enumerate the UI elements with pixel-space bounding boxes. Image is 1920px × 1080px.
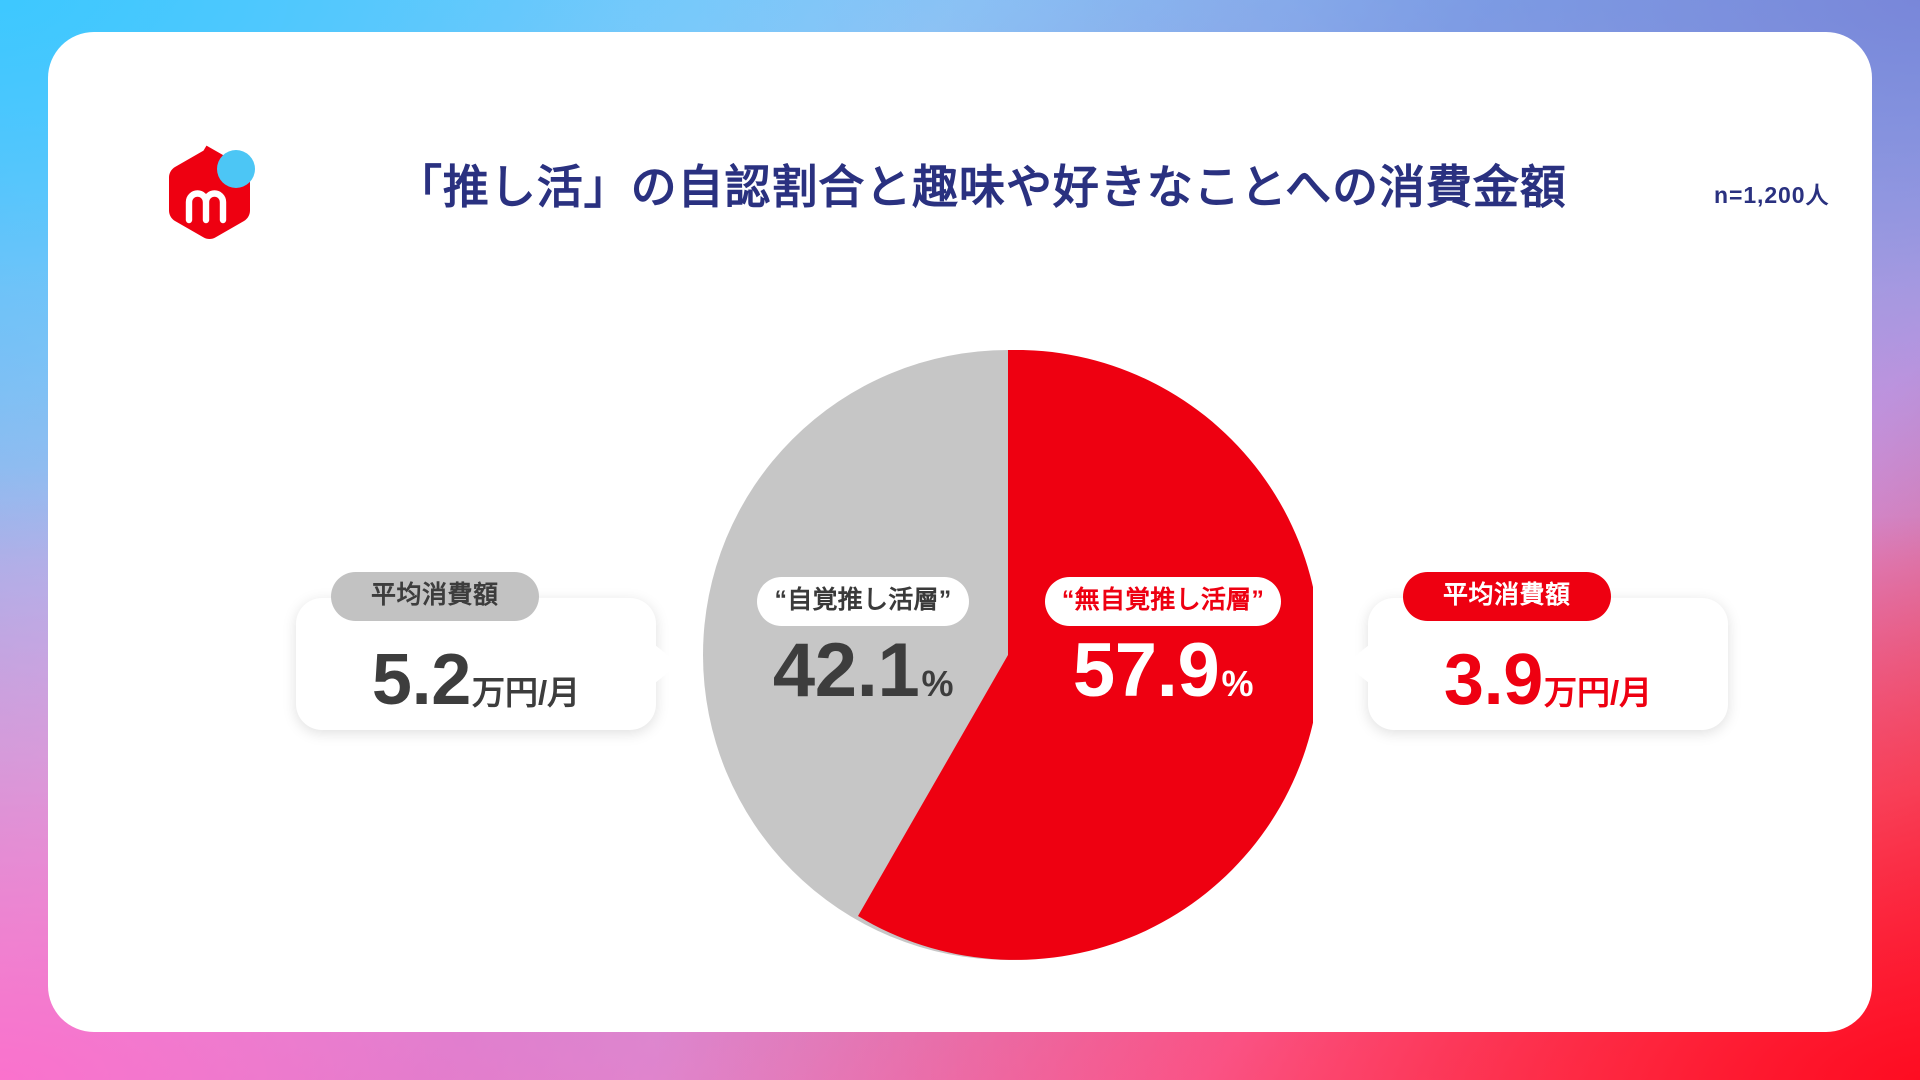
callout-right-amount: 3.9 万円/月 xyxy=(1368,644,1728,716)
content-card: 「推し活」の自認割合と趣味や好きなことへの消費金額 n=1,200人 “自覚推し… xyxy=(48,32,1872,1032)
mercari-logo xyxy=(158,140,262,244)
pie-label-gray: “自覚推し活層” 42.1 % xyxy=(748,577,978,709)
infographic-page: 「推し活」の自認割合と趣味や好きなことへの消費金額 n=1,200人 “自覚推し… xyxy=(0,0,1920,1080)
pie-label-red-pill: “無自覚推し活層” xyxy=(1045,577,1281,626)
pie-label-red: “無自覚推し活層” 57.9 % xyxy=(1043,577,1283,709)
callout-left-amount: 5.2 万円/月 xyxy=(296,644,656,716)
pie-value-red: 57.9 % xyxy=(1073,633,1253,709)
callout-right-unit: 万円/月 xyxy=(1544,676,1652,709)
callout-left-tail xyxy=(655,645,679,683)
pie-value-gray-number: 42.1 xyxy=(773,633,920,709)
callout-right-pill: 平均消費額 xyxy=(1403,572,1611,621)
pie-label-gray-pill: “自覚推し活層” xyxy=(757,577,968,626)
callout-right-value: 3.9 xyxy=(1444,644,1543,716)
callout-left-pill: 平均消費額 xyxy=(331,572,539,621)
callout-left-value: 5.2 xyxy=(372,644,471,716)
callout-right-tail xyxy=(1345,645,1369,683)
pie-value-red-unit: % xyxy=(1221,666,1253,702)
pie-value-gray-unit: % xyxy=(921,666,953,702)
sample-size-label: n=1,200人 xyxy=(1714,176,1829,210)
callout-left-unit: 万円/月 xyxy=(472,676,580,709)
pie-value-red-number: 57.9 xyxy=(1073,633,1220,709)
page-title: 「推し活」の自認割合と趣味や好きなことへの消費金額 xyxy=(396,160,1567,215)
pie-value-gray: 42.1 % xyxy=(773,633,953,709)
